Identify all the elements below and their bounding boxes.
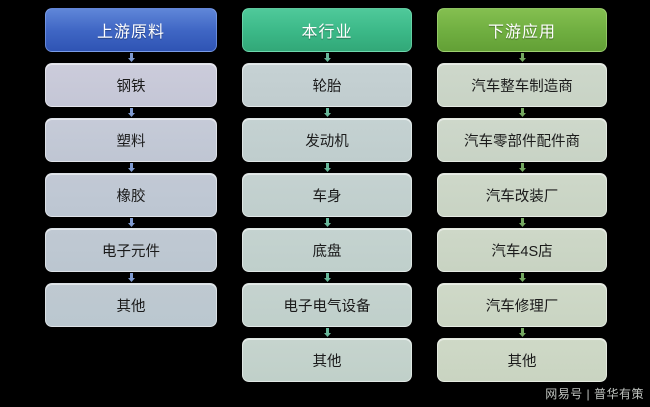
node-cell[interactable]: 其他	[437, 338, 607, 382]
arrow-down-icon	[519, 108, 526, 117]
column-header-downstream[interactable]: 下游应用	[437, 8, 607, 52]
arrow-down-icon	[128, 108, 135, 117]
arrow-connector	[242, 327, 412, 338]
arrow-down-icon	[128, 273, 135, 282]
arrow-down-icon	[324, 108, 331, 117]
arrow-connector	[45, 217, 217, 228]
arrow-connector	[45, 52, 217, 63]
arrow-down-icon	[519, 163, 526, 172]
arrow-connector	[242, 217, 412, 228]
column-header-industry[interactable]: 本行业	[242, 8, 412, 52]
node-cell[interactable]: 汽车修理厂	[437, 283, 607, 327]
arrow-connector	[437, 327, 607, 338]
node-cell[interactable]: 轮胎	[242, 63, 412, 107]
column-upstream: 上游原料 钢铁 塑料 橡胶 电子元件 其他	[45, 8, 217, 327]
node-cell[interactable]: 电子元件	[45, 228, 217, 272]
node-cell[interactable]: 钢铁	[45, 63, 217, 107]
arrow-connector	[437, 272, 607, 283]
arrow-connector	[242, 272, 412, 283]
arrow-down-icon	[128, 163, 135, 172]
arrow-down-icon	[519, 53, 526, 62]
node-cell[interactable]: 塑料	[45, 118, 217, 162]
arrow-down-icon	[519, 328, 526, 337]
node-cell[interactable]: 汽车改装厂	[437, 173, 607, 217]
arrow-down-icon	[324, 273, 331, 282]
arrow-down-icon	[128, 218, 135, 227]
arrow-down-icon	[324, 163, 331, 172]
node-cell[interactable]: 汽车整车制造商	[437, 63, 607, 107]
column-industry: 本行业 轮胎 发动机 车身 底盘 电子电气设备 其他	[242, 8, 412, 382]
column-header-upstream[interactable]: 上游原料	[45, 8, 217, 52]
node-cell[interactable]: 其他	[45, 283, 217, 327]
node-cell[interactable]: 橡胶	[45, 173, 217, 217]
node-cell[interactable]: 汽车零部件配件商	[437, 118, 607, 162]
arrow-down-icon	[324, 218, 331, 227]
arrow-connector	[45, 272, 217, 283]
arrow-connector	[437, 107, 607, 118]
node-cell[interactable]: 其他	[242, 338, 412, 382]
industry-chain-diagram: 上游原料 钢铁 塑料 橡胶 电子元件 其他 本行业 轮胎 发动机	[0, 0, 650, 407]
arrow-connector	[437, 162, 607, 173]
arrow-down-icon	[519, 218, 526, 227]
node-cell[interactable]: 发动机	[242, 118, 412, 162]
node-cell[interactable]: 底盘	[242, 228, 412, 272]
arrow-connector	[45, 107, 217, 118]
arrow-connector	[242, 52, 412, 63]
watermark-text: 网易号 | 普华有策	[545, 385, 644, 402]
arrow-down-icon	[324, 328, 331, 337]
arrow-connector	[45, 162, 217, 173]
arrow-connector	[242, 162, 412, 173]
node-cell[interactable]: 电子电气设备	[242, 283, 412, 327]
node-cell[interactable]: 汽车4S店	[437, 228, 607, 272]
arrow-down-icon	[519, 273, 526, 282]
node-cell[interactable]: 车身	[242, 173, 412, 217]
arrow-down-icon	[128, 53, 135, 62]
arrow-connector	[437, 217, 607, 228]
arrow-connector	[242, 107, 412, 118]
arrow-down-icon	[324, 53, 331, 62]
arrow-connector	[437, 52, 607, 63]
column-downstream: 下游应用 汽车整车制造商 汽车零部件配件商 汽车改装厂 汽车4S店 汽车修理厂 …	[437, 8, 607, 382]
